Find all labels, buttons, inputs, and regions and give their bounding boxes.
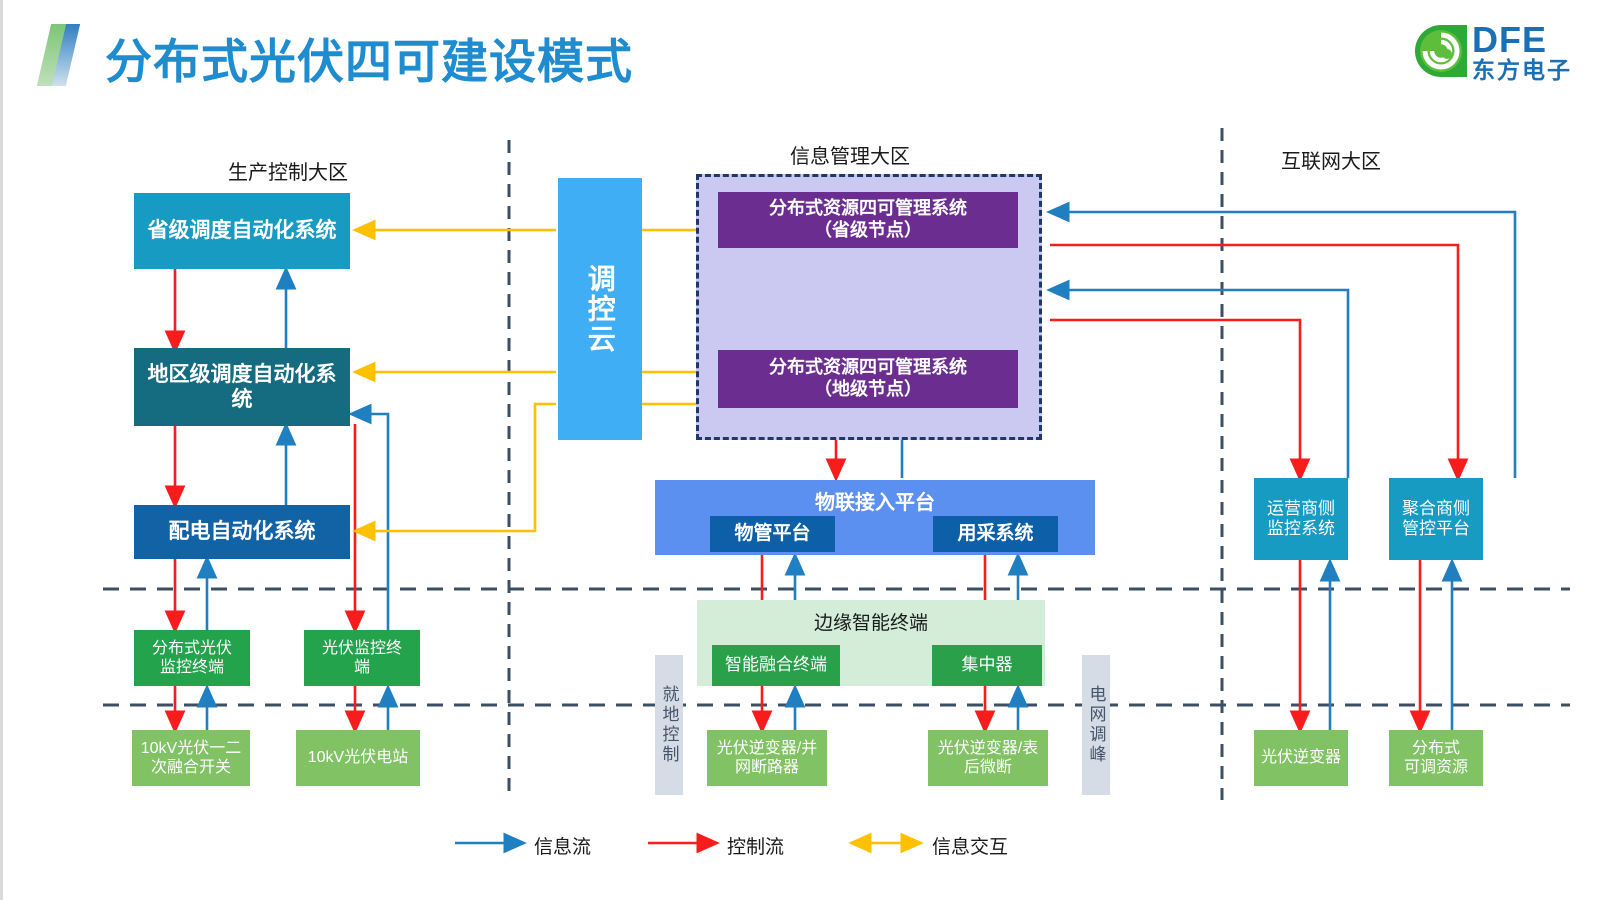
zone-label-internet: 互联网大区: [1281, 145, 1381, 174]
dfe-swirl-icon: [1414, 24, 1468, 78]
node-pv-monitor-distributed-line2: 监控终端: [156, 658, 228, 677]
legend-label-control-flow: 控制流: [727, 832, 784, 859]
zone-label-production: 生产控制大区: [228, 156, 348, 185]
node-operator-monitoring-line2: 监控系统: [1263, 519, 1339, 539]
company-logo: DFE 东方电子: [1414, 22, 1594, 84]
node-dms-province-line2: （省级节点）: [810, 220, 926, 242]
node-switch-10kv-line2: 次融合开关: [147, 758, 235, 777]
node-switch-10kv[interactable]: 10kV光伏一二 次融合开关: [132, 730, 250, 786]
node-inverter-grid-breaker-line2: 网断路器: [731, 758, 803, 777]
node-distribution-automation[interactable]: 配电自动化系统: [134, 505, 350, 559]
node-concentrator-label: 集中器: [958, 655, 1017, 675]
node-pv-monitor-terminal-line2: 端: [350, 658, 374, 677]
node-operator-monitoring[interactable]: 运营商侧 监控系统: [1254, 478, 1348, 560]
node-aggregator-platform-line1: 聚合商侧: [1398, 499, 1474, 519]
node-dispatch-cloud-label: 调控云: [579, 264, 621, 354]
node-iot-platform-label: 物联接入平台: [655, 486, 1095, 515]
node-metering-system-label: 用采系统: [953, 523, 1037, 546]
node-dms-province-line1: 分布式资源四可管理系统: [765, 198, 971, 220]
legend-label-info-flow: 信息流: [534, 832, 591, 859]
node-prov-dispatch[interactable]: 省级调度自动化系统: [134, 193, 350, 269]
node-iot-mgmt-label: 物管平台: [730, 523, 814, 546]
node-city-dispatch[interactable]: 地区级调度自动化系统: [134, 348, 350, 426]
legend-label-info-exchange: 信息交互: [932, 832, 1008, 859]
node-pv-inverter[interactable]: 光伏逆变器: [1254, 730, 1348, 786]
node-smart-terminal-label: 智能融合终端: [721, 655, 831, 675]
node-dms-city-line1: 分布式资源四可管理系统: [765, 357, 971, 379]
zone-label-information: 信息管理大区: [790, 140, 910, 169]
side-label-grid-peak: 电网调峰: [1082, 655, 1110, 795]
logo-brand-text: DFE: [1472, 22, 1547, 58]
node-dms-city-line2: （地级节点）: [810, 379, 926, 401]
node-station-10kv-label: 10kV光伏电站: [304, 748, 412, 767]
left-accent-rail: [0, 0, 3, 900]
node-pv-monitor-terminal[interactable]: 光伏监控终 端: [304, 630, 420, 686]
title-accent-bars-icon: [44, 24, 78, 86]
node-operator-monitoring-line1: 运营商侧: [1263, 499, 1339, 519]
page-title: 分布式光伏四可建设模式: [105, 23, 633, 92]
node-inverter-meter-breaker-line1: 光伏逆变器/表: [934, 739, 1042, 758]
node-inverter-grid-breaker[interactable]: 光伏逆变器/并 网断路器: [707, 730, 827, 786]
slide-canvas: 分布式光伏四可建设模式 DFE 东方电子: [0, 0, 1612, 900]
node-metering-system[interactable]: 用采系统: [933, 516, 1058, 552]
node-inverter-meter-breaker[interactable]: 光伏逆变器/表 后微断: [928, 730, 1048, 786]
node-adjustable-resource-line1: 分布式: [1408, 739, 1464, 758]
node-adjustable-resource-line2: 可调资源: [1400, 758, 1472, 777]
node-inverter-grid-breaker-line1: 光伏逆变器/并: [713, 739, 821, 758]
node-aggregator-platform[interactable]: 聚合商侧 管控平台: [1389, 478, 1483, 560]
node-dms-province[interactable]: 分布式资源四可管理系统 （省级节点）: [718, 192, 1018, 248]
logo-brand-cn-text: 东方电子: [1472, 58, 1572, 82]
node-prov-dispatch-label: 省级调度自动化系统: [144, 218, 341, 243]
node-smart-terminal[interactable]: 智能融合终端: [712, 645, 840, 686]
node-station-10kv[interactable]: 10kV光伏电站: [296, 730, 420, 786]
node-iot-platform[interactable]: 物联接入平台 物管平台 用采系统: [655, 480, 1095, 555]
node-inverter-meter-breaker-line2: 后微断: [960, 758, 1016, 777]
node-city-dispatch-label: 地区级调度自动化系统: [134, 362, 350, 412]
node-distribution-automation-label: 配电自动化系统: [165, 519, 320, 544]
node-dispatch-cloud[interactable]: 调控云: [558, 178, 642, 440]
side-label-local-control: 就地控制: [655, 655, 683, 795]
node-dms-city[interactable]: 分布式资源四可管理系统 （地级节点）: [718, 350, 1018, 408]
node-pv-monitor-distributed-line1: 分布式光伏: [148, 639, 236, 658]
node-switch-10kv-line1: 10kV光伏一二: [137, 739, 245, 758]
edge-terminal-band-label: 边缘智能终端: [697, 608, 1045, 635]
node-iot-mgmt[interactable]: 物管平台: [710, 516, 835, 552]
node-aggregator-platform-line2: 管控平台: [1398, 519, 1474, 539]
node-adjustable-resource[interactable]: 分布式 可调资源: [1389, 730, 1483, 786]
node-pv-inverter-label: 光伏逆变器: [1257, 748, 1345, 767]
node-concentrator[interactable]: 集中器: [932, 645, 1042, 686]
node-pv-monitor-distributed[interactable]: 分布式光伏 监控终端: [134, 630, 250, 686]
node-pv-monitor-terminal-line1: 光伏监控终: [318, 639, 406, 658]
